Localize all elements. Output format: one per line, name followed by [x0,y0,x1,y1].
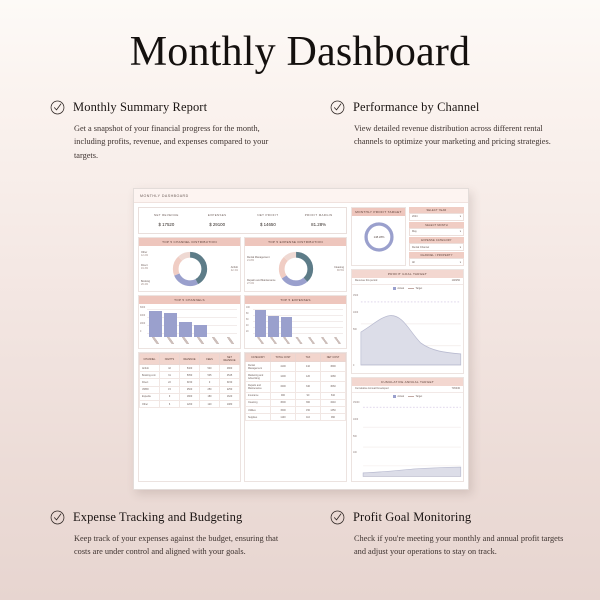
kpi-net-revenue: NET REVENUE $ 17520 [141,213,192,227]
filter-dropdown[interactable]: May ▾ [409,228,464,235]
chart-title: TOP 5 EXPENSES [245,296,346,304]
table-row: Supplies 1100 110 990 [246,414,346,421]
feature-header: Profit Goal Monitoring [330,510,580,525]
chevron-down-icon: ▾ [460,246,461,249]
feature-header: Monthly Summary Report [50,100,300,115]
legend-item-target: Target [408,287,422,290]
kpi-strip: NET REVENUE $ 17520 EXPENSES $ 29100 NET… [138,207,347,234]
area-chart [352,291,463,373]
filter-value: 2024 [412,215,418,218]
donut-label: Rental Management 21.8% [247,256,270,263]
kpi-value: $ 17520 [141,222,192,227]
donut-plot: Rental Management 21.8% Repairs and Main… [245,246,346,291]
filter-dropdown[interactable]: 2024 ▾ [409,213,464,220]
table-row: Expedia 9 1800 180 1620 [140,393,240,400]
gauge-and-filters: MONTHLY PROFIT TARGET 148.28% SELECT YEA… [351,207,464,266]
feature-description: Check if you're meeting your monthly and… [354,532,572,559]
gauge-donut: 148.28% [362,220,396,254]
table-row: VRBO 15 2500 250 2250 [140,386,240,393]
area-plot: 15000 1000 500 100 [352,399,463,481]
donut-label: Direct 19.3% [141,264,148,271]
chart-subheader: Cumulative Annual Developed 745430 [352,386,463,393]
table-header-row: CHANNEL NIGHTS REVENUE FEES NET REVENUE [140,354,240,365]
dashboard-mockup: MONTHLY DASHBOARD NET REVENUE $ 17520 EX… [133,188,469,490]
feature-title: Performance by Channel [353,100,479,115]
feature-monthly-summary-report: Monthly Summary Report Get a snapshot of… [50,100,300,162]
feature-description: View detailed revenue distribution acros… [354,122,572,149]
data-table: CHANNEL NIGHTS REVENUE FEES NET REVENUE … [139,353,240,408]
legend-item-actual: Actual [393,287,404,290]
check-circle-icon [330,100,345,115]
feature-title: Monthly Summary Report [73,100,207,115]
donut-label: Airbnb 42.1% [231,266,238,273]
feature-performance-by-channel: Performance by Channel View detailed rev… [330,100,580,149]
chart-expense-distribution: TOP 5 EXPENSE DISTRIBUTION Rental Manage… [244,237,347,292]
poster-root: Monthly Dashboard Monthly Summary Report… [0,0,600,600]
chart-title: TOP 5 EXPENSE DISTRIBUTION [245,238,346,246]
donut-chart [276,249,316,289]
donut-label: Other 12.2% [141,251,148,258]
donut-label: Repairs and Maintenance 27.0% [247,279,276,286]
kpi-label: PROFIT MARGIN [293,213,344,217]
filter-value: Rental Channel [412,246,429,249]
gauge-plot: 148.28% [352,216,405,258]
chart-title: PROFIT GOAL TARGET [352,270,463,278]
kpi-expenses: EXPENSES $ 29100 [192,213,243,227]
gauge-profit-target: MONTHLY PROFIT TARGET 148.28% [351,207,406,266]
feature-profit-goal-monitoring: Profit Goal Monitoring Check if you're m… [330,510,580,559]
chart-channel-distribution: TOP 5 CHANNEL DISTRIBUTION Other 12.2% [138,237,241,292]
chart-top-expenses: TOP 5 EXPENSES 100 80 60 40 20 [244,295,347,349]
table-row: Direct 22 3150 0 3150 [140,379,240,386]
table-row: Insurance 900 90 810 [246,392,346,399]
check-circle-icon [50,100,65,115]
table-row: Booking.com 31 5050 505 4545 [140,372,240,379]
filter-value: All [412,261,415,264]
chart-subheader: Revenue this period 148250 [352,278,463,285]
table-row: Cleaning 3600 360 3240 [246,399,346,406]
kpi-label: NET REVENUE [141,213,192,217]
filter-dropdown[interactable]: Rental Channel ▾ [409,243,464,250]
chart-top-channels: TOP 5 CHANNELS 6000 4000 2000 0 [138,295,241,349]
table-header-row: CATEGORY TOTAL COST TAX NET COST [246,354,346,362]
filter-dropdown[interactable]: All ▾ [409,258,464,265]
filter-channel-property[interactable]: CHANNEL / PROPERTY All ▾ [409,252,464,266]
kpi-label: NET PROFIT [243,213,294,217]
kpi-value: 81.28% [293,222,344,227]
chart-cumulative-annual-target: CUMULATIVE ANNUAL TARGET Cumulative Annu… [351,377,464,482]
mockup-title: MONTHLY DASHBOARD [140,194,189,198]
table-channel-breakdown: CHANNEL NIGHTS REVENUE FEES NET REVENUE … [138,352,241,482]
filter-select-year[interactable]: SELECT YEAR 2024 ▾ [409,207,464,221]
feature-header: Expense Tracking and Budgeting [50,510,300,525]
feature-title: Expense Tracking and Budgeting [73,510,242,525]
gauge-value: 148.28% [373,235,384,239]
legend-item-target: Target [408,395,422,398]
feature-description: Keep track of your expenses against the … [74,532,292,559]
table-row: Rental Management 4100 410 3690 [246,362,346,372]
chart-title: TOP 5 CHANNELS [139,296,240,304]
donut-label: Booking 26.4% [141,280,150,287]
table-expense-breakdown: CATEGORY TOTAL COST TAX NET COST Rental … [244,352,347,482]
chart-title: TOP 5 CHANNEL DISTRIBUTION [139,238,240,246]
donut-label: Cleaning 38.5% [334,266,344,273]
kpi-value: $ 29100 [192,222,243,227]
table-row: Repairs and Maintenance 3400 340 3060 [246,382,346,392]
check-circle-icon [50,510,65,525]
kpi-label: EXPENSES [192,213,243,217]
kpi-net-profit: NET PROFIT $ 14650 [243,213,294,227]
area-chart [352,399,463,481]
bar-series [255,308,343,337]
check-circle-icon [330,510,345,525]
bar-plot: 6000 4000 2000 0 [139,304,240,348]
mockup-titlebar: MONTHLY DASHBOARD [134,189,468,203]
area-plot: 1500 1000 500 0 [352,291,463,373]
filter-expense-category[interactable]: EXPENSE CATEGORY Rental Channel ▾ [409,237,464,251]
gauge-title: MONTHLY PROFIT TARGET [352,208,405,216]
feature-description: Get a snapshot of your financial progres… [74,122,292,162]
legend-item-actual: Actual [393,395,404,398]
table-row: Utilities 1500 150 1350 [246,406,346,413]
chevron-down-icon: ▾ [460,230,461,233]
donut-plot: Other 12.2% Direct 19.3% Booking 26.4% [139,246,240,291]
page-title: Monthly Dashboard [0,28,600,76]
table-row: Airbnb 42 5400 540 4860 [140,365,240,372]
feature-header: Performance by Channel [330,100,580,115]
chevron-down-icon: ▾ [460,261,461,264]
table-row: Marketing and Advertising 1200 120 1080 [246,372,346,382]
bar-plot: 100 80 60 40 20 [245,304,346,348]
feature-expense-tracking-and-budgeting: Expense Tracking and Budgeting Keep trac… [50,510,300,559]
feature-title: Profit Goal Monitoring [353,510,471,525]
data-table: CATEGORY TOTAL COST TAX NET COST Rental … [245,353,346,421]
chart-title: CUMULATIVE ANNUAL TARGET [352,378,463,386]
table-row: Other 6 1200 120 1080 [140,400,240,407]
chart-profit-goal-target: PROFIT GOAL TARGET Revenue this period 1… [351,269,464,374]
bar-series [149,308,237,337]
bar-x-labels [255,337,343,348]
filter-panel: SELECT YEAR 2024 ▾ SELECT MONTH May ▾ [409,207,464,266]
bar-x-labels [149,337,237,348]
kpi-profit-margin: PROFIT MARGIN 81.28% [293,213,344,227]
filter-value: May [412,230,417,233]
kpi-value: $ 14650 [243,222,294,227]
donut-chart [170,249,210,289]
chevron-down-icon: ▾ [460,215,461,218]
filter-select-month[interactable]: SELECT MONTH May ▾ [409,222,464,236]
